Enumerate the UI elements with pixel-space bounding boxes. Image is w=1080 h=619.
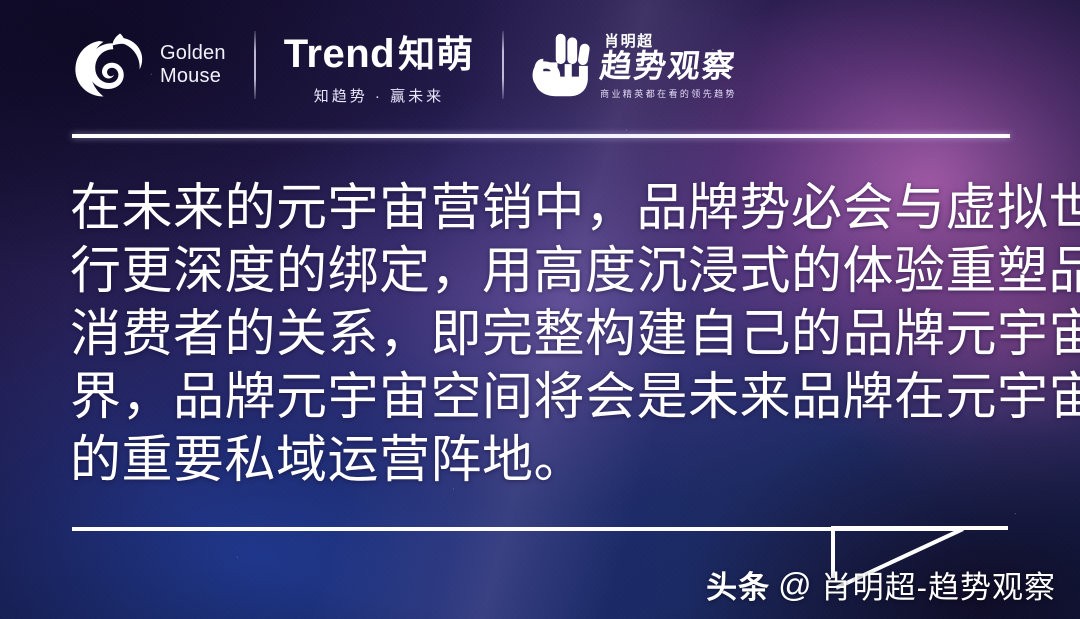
logo-divider-2 <box>502 31 504 99</box>
trend-wordmark-row: Trend 知萌 <box>284 24 474 78</box>
mouse-swirl-icon <box>72 32 150 98</box>
trend-latin-word: Trend <box>284 32 395 77</box>
logo-trend-zhimeng: Trend 知萌 知趋势 · 赢未来 <box>284 24 474 106</box>
logo-bar: Golden Mouse Trend 知萌 知趋势 · 赢未来 <box>72 22 737 108</box>
trend-watch-text: 肖明超 趋势观察 商业精英都在看的领先趋势 <box>600 30 737 100</box>
hand-eye-icon <box>532 32 592 98</box>
trend-watch-subtitle: 商业精英都在看的领先趋势 <box>600 87 737 100</box>
logo-divider-1 <box>254 31 256 99</box>
quote-line: 的重要私域运营阵地。 <box>70 428 1020 491</box>
trend-chinese-word: 知萌 <box>398 24 474 78</box>
watermark: 头条 @ 肖明超-趋势观察 <box>706 562 1056 607</box>
watermark-handle: 肖明超-趋势观察 <box>821 562 1056 607</box>
logo-trend-watch: 肖明超 趋势观察 商业精英都在看的领先趋势 <box>532 30 737 100</box>
quote-line: 行更深度的绑定，用高度沉浸式的体验重塑品牌与 <box>70 239 1020 302</box>
watermark-at-symbol: @ <box>778 566 813 604</box>
quote-text-block: 在未来的元宇宙营销中，品牌势必会与虚拟世界进 行更深度的绑定，用高度沉浸式的体验… <box>70 176 1020 491</box>
quote-line: 界，品牌元宇宙空间将会是未来品牌在元宇宙时代 <box>70 365 1020 428</box>
golden-mouse-wordmark: Golden Mouse <box>160 42 226 88</box>
watermark-source: 头条 <box>706 562 770 607</box>
trend-watch-title: 趋势观察 <box>598 50 739 84</box>
divider-rule-top <box>72 134 1010 138</box>
quote-card: Golden Mouse Trend 知萌 知趋势 · 赢未来 <box>0 0 1080 619</box>
quote-line: 在未来的元宇宙营销中，品牌势必会与虚拟世界进 <box>70 176 1020 239</box>
logo-golden-mouse: Golden Mouse <box>72 32 226 98</box>
quote-line: 消费者的关系，即完整构建自己的品牌元宇宙世 <box>70 302 1020 365</box>
trend-tagline: 知趋势 · 赢未来 <box>314 85 444 106</box>
